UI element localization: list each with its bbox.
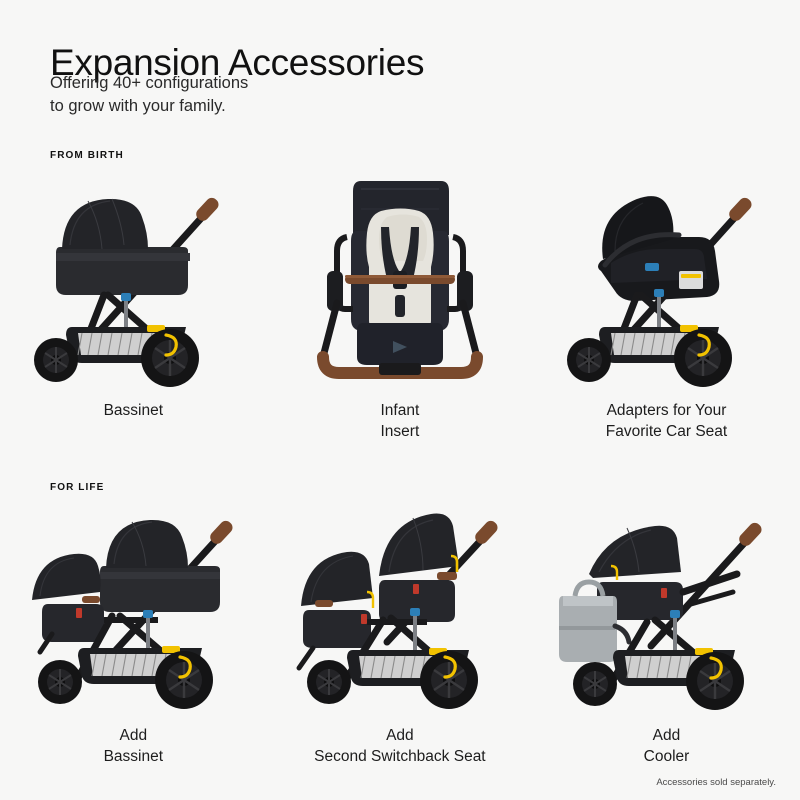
front-wheel xyxy=(573,662,617,706)
product-caption: Bassinet xyxy=(104,400,163,421)
double-stroller-seat-plus-bassinet-image xyxy=(8,500,258,715)
page-subtitle: Offering 40+ configurations to grow with… xyxy=(50,72,248,118)
product-cell-add-second-seat[interactable]: Add Second Switchback Seat xyxy=(267,500,534,767)
rear-wheel xyxy=(141,329,199,387)
section-label-for-life: FOR LIFE xyxy=(50,482,104,493)
front-wheel xyxy=(38,660,82,704)
stroller-with-bassinet-image xyxy=(8,175,258,390)
section-from-birth-row: Bassinet xyxy=(0,175,800,442)
product-caption: Add Cooler xyxy=(644,725,690,767)
product-cell-add-bassinet[interactable]: Add Bassinet xyxy=(0,500,267,767)
section-for-life-row: Add Bassinet xyxy=(0,500,800,767)
front-wheel xyxy=(34,338,78,382)
product-cell-add-cooler[interactable]: Add Cooler xyxy=(533,500,800,767)
footnote-accessories-sold-separately: Accessories sold separately. xyxy=(656,777,776,788)
stroller-front-infant-insert-image xyxy=(275,175,525,390)
product-caption: Adapters for Your Favorite Car Seat xyxy=(606,400,727,442)
section-label-from-birth: FROM BIRTH xyxy=(50,150,124,161)
product-cell-bassinet[interactable]: Bassinet xyxy=(0,175,267,442)
product-caption: Add Bassinet xyxy=(104,725,163,767)
rear-wheel xyxy=(420,651,478,709)
rear-wheel xyxy=(155,651,213,709)
product-caption: Infant Insert xyxy=(381,400,420,442)
rear-wheel xyxy=(674,329,732,387)
rear-wheel xyxy=(686,652,744,710)
product-cell-infant-insert[interactable]: Infant Insert xyxy=(267,175,534,442)
expansion-accessories-page: Expansion Accessories Offering 40+ confi… xyxy=(0,0,800,800)
product-cell-car-seat-adapters[interactable]: Adapters for Your Favorite Car Seat xyxy=(533,175,800,442)
product-caption: Add Second Switchback Seat xyxy=(314,725,485,767)
front-wheel xyxy=(567,338,611,382)
double-stroller-two-seats-image xyxy=(275,500,525,715)
front-wheel xyxy=(307,660,351,704)
stroller-with-car-seat-image xyxy=(541,175,791,390)
stroller-with-cooler-image xyxy=(541,500,791,715)
